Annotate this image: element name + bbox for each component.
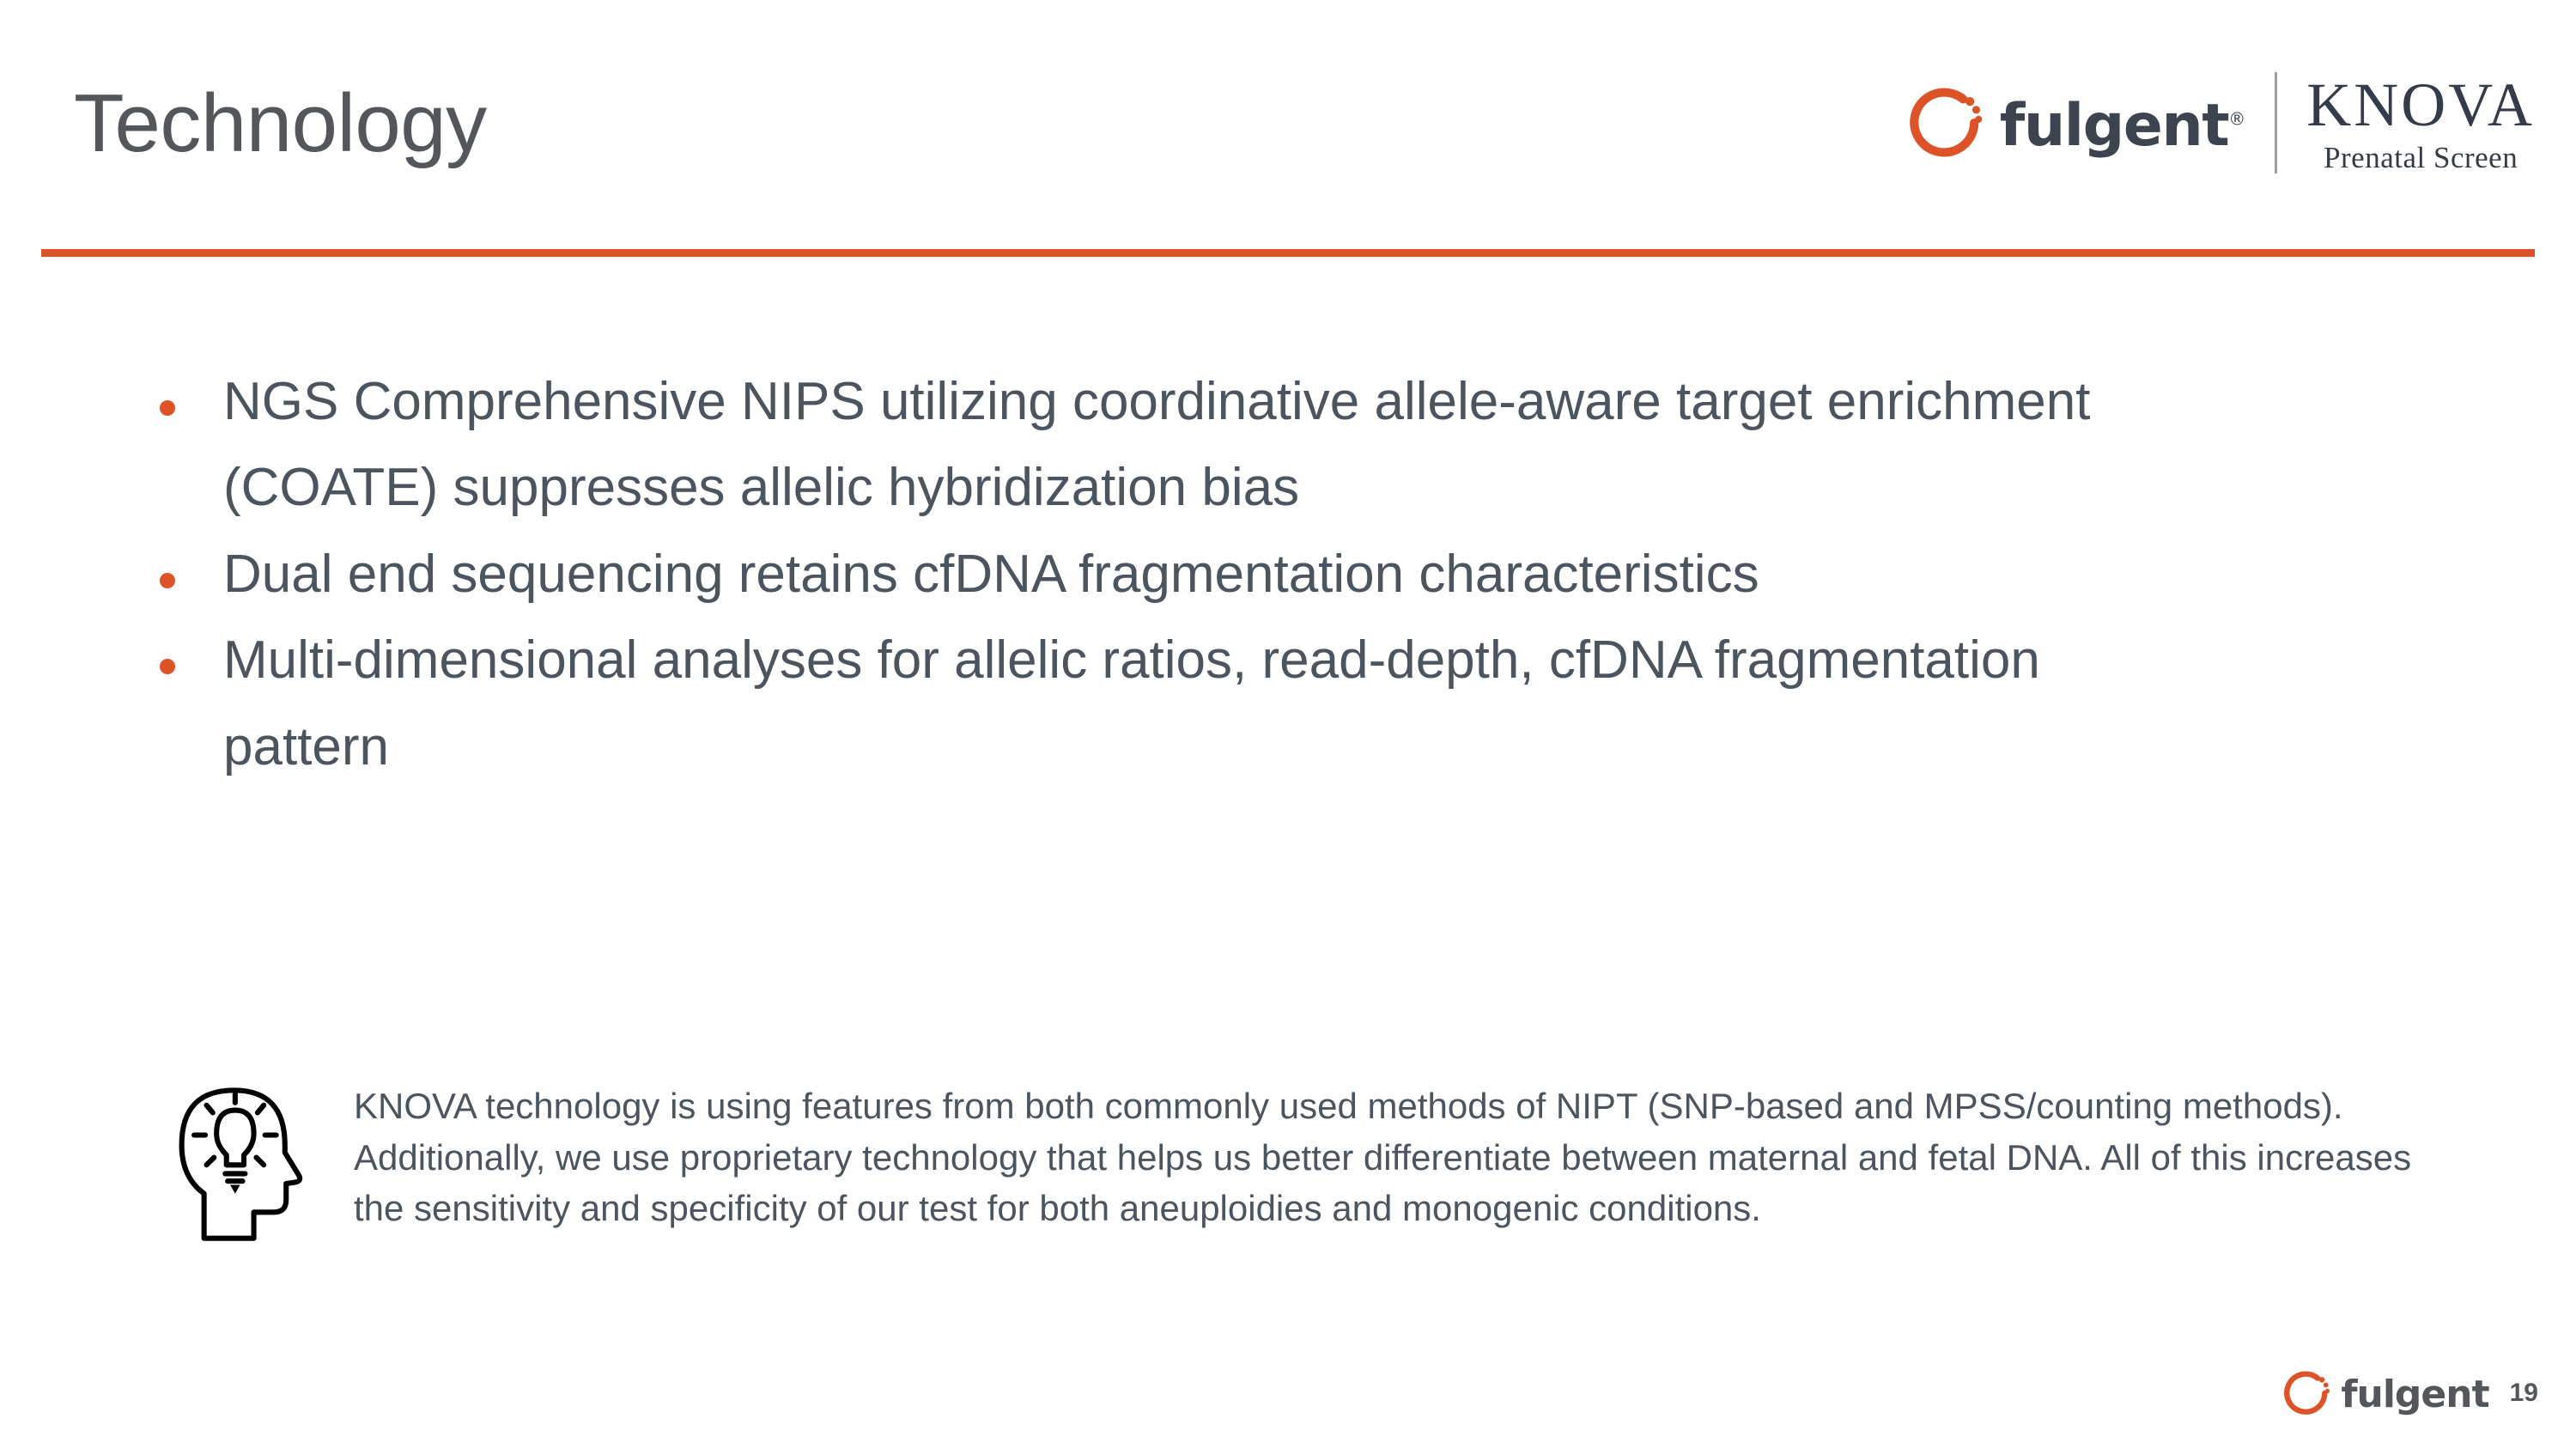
bullet-text: NGS Comprehensive NIPS utilizing coordin… (223, 359, 2190, 532)
brand-lockup: fulgent® KNOVA Prenatal Screen (1907, 67, 2535, 179)
header-divider-rule (41, 249, 2535, 257)
list-item: NGS Comprehensive NIPS utilizing coordin… (160, 359, 2306, 532)
callout-note: KNOVA technology is using features from … (168, 1075, 2487, 1256)
fulgent-ring-icon (2282, 1368, 2332, 1418)
callout-text: KNOVA technology is using features from … (354, 1075, 2458, 1234)
bullet-dot-icon (160, 573, 175, 588)
knova-subtitle: Prenatal Screen (2324, 143, 2518, 173)
page-title: Technology (74, 81, 487, 167)
slide-canvas: Technology fulgent® KNOVA Prenatal Scree… (0, 0, 2576, 1449)
footer-fulgent-wordmark: fulgent (2341, 1376, 2488, 1414)
knova-brand-block: KNOVA Prenatal Screen (2306, 74, 2535, 173)
bullet-text: Multi-dimensional analyses for allelic r… (223, 618, 2190, 790)
head-lightbulb-icon (168, 1075, 319, 1256)
page-number: 19 (2510, 1380, 2538, 1406)
list-item: Dual end sequencing retains cfDNA fragme… (160, 532, 2306, 618)
bullet-list: NGS Comprehensive NIPS utilizing coordin… (160, 359, 2306, 790)
list-item: Multi-dimensional analyses for allelic r… (160, 618, 2306, 790)
bullet-dot-icon (160, 400, 175, 416)
slide-footer: fulgent 19 (2282, 1368, 2538, 1418)
registered-trademark-icon: ® (2228, 108, 2245, 129)
fulgent-ring-icon (1907, 83, 1986, 162)
footer-fulgent-logo: fulgent (2282, 1368, 2488, 1418)
fulgent-wordmark: fulgent® (2000, 97, 2246, 155)
bullet-dot-icon (160, 659, 175, 674)
vertical-divider (2275, 72, 2277, 174)
fulgent-logo: fulgent® (1907, 83, 2246, 162)
bullet-text: Dual end sequencing retains cfDNA fragme… (223, 532, 1759, 618)
knova-title: KNOVA (2306, 74, 2535, 136)
